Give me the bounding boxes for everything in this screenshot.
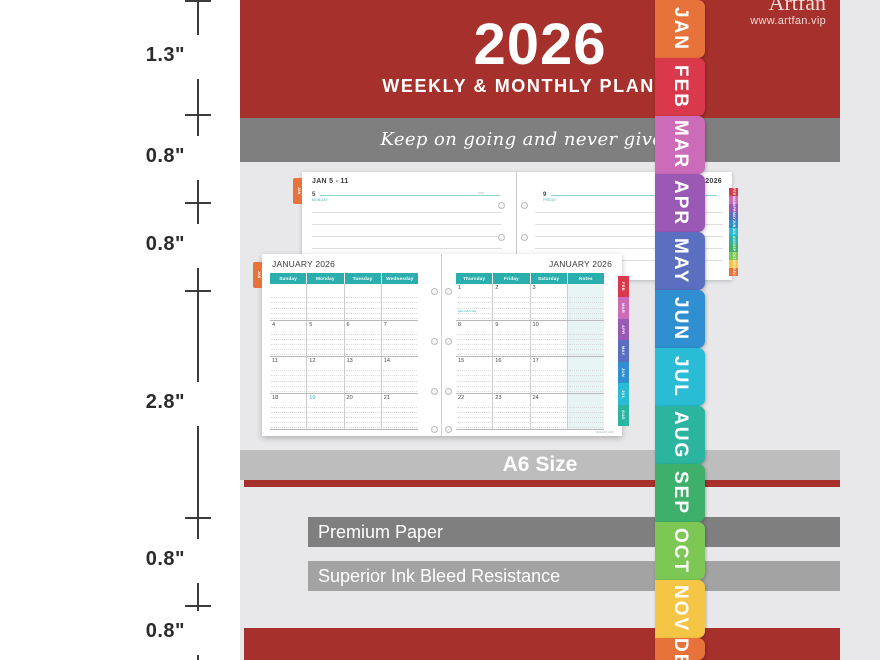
monthly-writing-lines — [271, 293, 305, 318]
month-tab-label: AUG — [655, 406, 705, 464]
product-listing-image: 1.3"0.8"0.8"2.8"0.8"0.8" Artfan www.artf… — [0, 0, 880, 660]
monthly-week-row: 4567 — [270, 321, 418, 358]
monthly-page-left: JANUARY 2026 SundayMondayTuesdayWednesda… — [262, 254, 442, 436]
monthly-writing-lines — [383, 293, 417, 318]
month-tab-sep[interactable]: SEP — [655, 464, 705, 522]
monthly-week-row: 18192021 — [270, 394, 418, 431]
weekly-rule — [320, 195, 500, 196]
monthly-day-cell[interactable]: 6 — [345, 321, 382, 357]
monthly-writing-lines — [494, 403, 528, 428]
monthly-writing-lines — [346, 403, 380, 428]
monthly-writing-lines — [346, 366, 380, 391]
mini-month-tab-jul: JUL — [729, 228, 738, 236]
ruler-segment: 1.3" — [0, 0, 240, 114]
monthly-day-cell[interactable]: 5 — [307, 321, 344, 357]
monthly-writing-lines — [383, 403, 417, 428]
monthly-column-header: Monday — [307, 273, 344, 284]
month-tab-feb[interactable]: FEB — [655, 58, 705, 116]
monthly-column-header: Saturday — [531, 273, 568, 284]
monthly-day-cell[interactable]: 23 — [493, 394, 530, 430]
quote-banner: Keep on going and never give up. — [240, 118, 840, 162]
mini-month-tab-feb: FEB — [729, 188, 738, 196]
ruler-line — [197, 202, 199, 224]
monthly-week-row: 222324 — [456, 394, 604, 431]
monthly-week-row: 1New Year's Day23 — [456, 284, 604, 321]
month-tab-label: DEC — [655, 638, 705, 660]
monthly-day-cell[interactable]: 8 — [456, 321, 493, 357]
monthly-writing-lines — [308, 366, 342, 391]
month-tab-rail: JANFEBMARAPRMAYJUNJULAUGSEPOCTNOVDEC — [655, 0, 711, 660]
monthly-day-cell[interactable] — [568, 321, 604, 357]
mini-month-tab-jul: JUL — [618, 383, 629, 404]
weekly-month-tab-strip: FEBMARAPRMAYJUNJULAUGSEPOCTNOVDEC — [729, 188, 738, 276]
mini-month-tab-oct: OCT — [729, 252, 738, 260]
mini-month-tab-dec: DEC — [729, 268, 738, 276]
monthly-writing-lines — [494, 293, 528, 318]
ruler-line — [197, 180, 199, 202]
month-tab-jun[interactable]: JUN — [655, 290, 705, 348]
monthly-day-cell[interactable] — [568, 394, 604, 430]
monthly-day-number: 3 — [533, 285, 536, 291]
ruler-segment-label: 2.8" — [0, 391, 185, 414]
month-tab-label: OCT — [655, 522, 705, 580]
mini-month-tab-mar: MAR — [618, 297, 629, 318]
weekly-day-name: FRIDAY — [543, 198, 557, 202]
monthly-writing-lines — [569, 330, 603, 355]
monthly-writing-lines — [457, 366, 491, 391]
ring-hole — [431, 288, 438, 295]
ruler-segment-label: 0.8" — [0, 548, 185, 571]
monthly-writing-lines — [383, 330, 417, 355]
monthly-day-cell[interactable] — [270, 284, 307, 320]
mini-month-tab-may: MAY — [618, 340, 629, 361]
ruler-line — [197, 517, 199, 539]
month-tab-aug[interactable]: AUG — [655, 406, 705, 464]
ring-hole — [431, 338, 438, 345]
ruler-segment-label: 0.8" — [0, 145, 185, 168]
monthly-column-header: Friday — [493, 273, 530, 284]
ruler-tick — [185, 0, 211, 2]
month-tab-label: MAY — [655, 232, 705, 290]
monthly-week-row — [270, 284, 418, 321]
month-tab-apr[interactable]: APR — [655, 174, 705, 232]
monthly-day-number: 6 — [347, 322, 350, 328]
monthly-day-cell[interactable]: 3 — [531, 284, 568, 320]
monthly-day-cell[interactable]: 2 — [493, 284, 530, 320]
size-banner: A6 Size — [240, 450, 840, 480]
monthly-day-cell[interactable]: 15 — [456, 357, 493, 393]
header-banner: Artfan www.artfan.vip 2026 WEEKLY & MONT… — [240, 0, 840, 118]
monthly-day-cell[interactable] — [307, 284, 344, 320]
monthly-day-number: 7 — [384, 322, 387, 328]
monthly-day-cell[interactable]: 16 — [493, 357, 530, 393]
ruler-line — [197, 268, 199, 290]
weekly-date-range: JAN 5 - 11 — [312, 178, 348, 185]
weekly-time-label: 6:00 — [478, 191, 484, 195]
month-tab-nov[interactable]: NOV — [655, 580, 705, 638]
monthly-writing-lines — [457, 403, 491, 428]
monthly-day-number: 8 — [458, 322, 461, 328]
bottom-banner — [244, 628, 840, 660]
ring-hole — [445, 388, 452, 395]
monthly-day-cell[interactable]: 10 — [531, 321, 568, 357]
monthly-day-cell[interactable] — [568, 357, 604, 393]
monthly-writing-lines — [494, 330, 528, 355]
monthly-writing-lines — [308, 293, 342, 318]
month-tab-label: SEP — [655, 464, 705, 522]
feature-bar-ink-bleed: Superior Ink Bleed Resistance — [308, 561, 840, 591]
mini-month-tab-jun: JUN — [618, 362, 629, 383]
ruler-line — [197, 79, 199, 114]
monthly-writing-lines — [569, 293, 603, 318]
ring-hole — [445, 288, 452, 295]
month-tab-label: JUN — [655, 290, 705, 348]
monthly-writing-lines — [532, 403, 566, 428]
monthly-day-number: 13 — [347, 358, 353, 364]
month-tab-label: APR — [655, 174, 705, 232]
size-underline — [244, 480, 840, 487]
ring-hole — [521, 234, 528, 241]
monthly-writing-lines — [457, 330, 491, 355]
monthly-writing-lines — [271, 366, 305, 391]
monthly-header-row: ThursdayFridaySaturdayNotes — [456, 273, 604, 284]
month-tab-label: FEB — [655, 58, 705, 116]
month-tab-dec[interactable]: DEC — [655, 638, 705, 660]
mini-month-tab-aug: AUG — [618, 405, 629, 426]
monthly-column-header: Thursday — [456, 273, 493, 284]
monthly-grid-left: SundayMondayTuesdayWednesday456711121314… — [270, 273, 418, 431]
monthly-column-header: Notes — [568, 273, 604, 284]
ruler-segment-label: 0.8" — [0, 233, 185, 256]
brand-name: Artfan — [606, 0, 826, 14]
monthly-day-number: 16 — [495, 358, 501, 364]
ring-hole — [445, 338, 452, 345]
feature-label: Superior Ink Bleed Resistance — [308, 561, 840, 591]
monthly-day-number: 11 — [272, 358, 278, 364]
monthly-column-header: Tuesday — [345, 273, 382, 284]
monthly-day-cell[interactable]: 24 — [531, 394, 568, 430]
product-panel: Artfan www.artfan.vip 2026 WEEKLY & MONT… — [240, 0, 880, 660]
monthly-day-cell[interactable]: 9 — [493, 321, 530, 357]
monthly-day-number: 15 — [458, 358, 464, 364]
ruler-line — [197, 605, 199, 611]
monthly-day-number: 10 — [533, 322, 539, 328]
monthly-day-number: 17 — [533, 358, 539, 364]
monthly-writing-lines — [494, 366, 528, 391]
monthly-day-number: 9 — [495, 322, 498, 328]
monthly-day-cell[interactable]: 1New Year's Day — [456, 284, 493, 320]
mini-month-tab-sep: SEP — [729, 244, 738, 252]
ruler-line — [197, 290, 199, 382]
quote-text: Keep on going and never give up. — [240, 118, 840, 162]
monthly-day-number: 12 — [309, 358, 315, 364]
ring-hole — [498, 202, 505, 209]
monthly-writing-lines — [346, 330, 380, 355]
product-photo-area: JAN JAN 5 - 11 5 MONDAY 6:00 — [240, 162, 840, 450]
ruler-segment-label: 1.3" — [0, 44, 185, 67]
monthly-day-number: 2 — [495, 285, 498, 291]
dimension-ruler: 1.3"0.8"0.8"2.8"0.8"0.8" — [0, 0, 240, 660]
monthly-writing-lines — [308, 330, 342, 355]
monthly-column-header: Wednesday — [382, 273, 418, 284]
monthly-day-cell[interactable]: 19 — [307, 394, 344, 430]
monthly-day-number: 20 — [347, 395, 353, 401]
monthly-writing-lines — [308, 403, 342, 428]
monthly-day-cell[interactable]: 11 — [270, 357, 307, 393]
month-tab-mar[interactable]: MAR — [655, 116, 705, 174]
month-tab-label: MAR — [655, 116, 705, 174]
ruler-segment: 2.8" — [0, 290, 240, 517]
monthly-day-number: 14 — [384, 358, 390, 364]
page-subtitle: WEEKLY & MONTHLY PLANNER — [240, 76, 840, 97]
ruler-segment: 0.8" — [0, 517, 240, 605]
monthly-writing-lines — [271, 330, 305, 355]
ruler-segment: 0.8" — [0, 202, 240, 290]
monthly-day-number: 4 — [272, 322, 275, 328]
weekly-day-right: 9 FRIDAY — [543, 192, 557, 202]
monthly-title-left: JANUARY 2026 — [272, 259, 335, 269]
month-tab-oct[interactable]: OCT — [655, 522, 705, 580]
monthly-day-cell[interactable]: 12 — [307, 357, 344, 393]
monthly-day-number: 5 — [309, 322, 312, 328]
monthly-writing-lines — [271, 403, 305, 428]
monthly-writing-lines — [383, 366, 417, 391]
ruler-segment: 0.8" — [0, 605, 240, 660]
month-tab-may[interactable]: MAY — [655, 232, 705, 290]
monthly-day-cell[interactable]: 17 — [531, 357, 568, 393]
monthly-writing-lines — [346, 293, 380, 318]
mini-month-tab-nov: NOV — [729, 260, 738, 268]
monthly-writing-lines — [457, 293, 491, 318]
mini-month-tab-apr: APR — [729, 204, 738, 212]
monthly-day-number: 22 — [458, 395, 464, 401]
monthly-planner-spread: JAN JANUARY 2026 SundayMondayTuesdayWedn… — [262, 254, 622, 436]
mini-month-tab-may: MAY — [729, 212, 738, 220]
monthly-title-right: JANUARY 2026 — [549, 259, 612, 269]
monthly-day-number: 1 — [458, 285, 461, 291]
monthly-day-cell[interactable]: 21 — [382, 394, 418, 430]
ruler-segment-label: 0.8" — [0, 620, 185, 643]
month-tab-label: NOV — [655, 580, 705, 638]
monthly-day-number: 24 — [533, 395, 539, 401]
monthly-day-cell[interactable]: 4 — [270, 321, 307, 357]
monthly-week-row: 11121314 — [270, 357, 418, 394]
ring-hole — [498, 234, 505, 241]
ring-hole — [431, 426, 438, 433]
monthly-writing-lines — [532, 330, 566, 355]
month-tab-jan[interactable]: JAN — [655, 0, 705, 58]
ring-hole — [521, 202, 528, 209]
mini-month-tab-aug: AUG — [729, 236, 738, 244]
monthly-day-cell[interactable]: 13 — [345, 357, 382, 393]
weekly-line — [312, 236, 502, 237]
mini-month-tab-apr: APR — [618, 319, 629, 340]
monthly-day-number: 21 — [384, 395, 390, 401]
monthly-day-cell[interactable]: 14 — [382, 357, 418, 393]
ruler-line — [197, 114, 199, 136]
monthly-page-right: JANUARY 2026 ThursdayFridaySaturdayNotes… — [442, 254, 622, 436]
monthly-grid-right: ThursdayFridaySaturdayNotes1New Year's D… — [456, 273, 604, 431]
monthly-day-cell[interactable]: 18 — [270, 394, 307, 430]
monthly-footer: JANUARY 2026 — [595, 431, 614, 434]
monthly-week-row: 8910 — [456, 321, 604, 358]
monthly-day-cell[interactable]: 22 — [456, 394, 493, 430]
weekly-line — [312, 224, 502, 225]
monthly-day-number: 18 — [272, 395, 278, 401]
monthly-day-number: 23 — [495, 395, 501, 401]
mini-month-tab-mar: MAR — [729, 196, 738, 204]
weekly-day-name: MONDAY — [312, 198, 328, 202]
page-title: 2026 — [240, 16, 840, 74]
monthly-day-cell[interactable]: 20 — [345, 394, 382, 430]
ruler-line — [197, 426, 199, 518]
monthly-month-tab-strip: FEBMARAPRMAYJUNJULAUG — [618, 276, 629, 426]
size-label: A6 Size — [240, 450, 840, 480]
ruler-segment: 0.8" — [0, 114, 240, 202]
ruler-line — [197, 583, 199, 605]
feature-label: Premium Paper — [308, 517, 840, 547]
feature-bar-premium-paper: Premium Paper — [308, 517, 840, 547]
monthly-day-number: 19 — [309, 395, 315, 401]
ring-hole — [431, 388, 438, 395]
weekly-line — [312, 212, 502, 213]
monthly-column-header: Sunday — [270, 273, 307, 284]
weekly-day-left: 5 MONDAY — [312, 192, 328, 202]
monthly-week-row: 151617 — [456, 357, 604, 394]
monthly-day-cell[interactable]: 7 — [382, 321, 418, 357]
monthly-writing-lines — [569, 366, 603, 391]
mini-month-tab-jun: JUN — [729, 220, 738, 228]
monthly-header-row: SundayMondayTuesdayWednesday — [270, 273, 418, 284]
ruler-line — [197, 0, 199, 35]
mini-month-tab-feb: FEB — [618, 276, 629, 297]
month-tab-label: JAN — [655, 0, 705, 58]
monthly-writing-lines — [532, 366, 566, 391]
ring-hole — [445, 426, 452, 433]
monthly-day-cell[interactable] — [568, 284, 604, 320]
monthly-day-cell[interactable] — [345, 284, 382, 320]
month-tab-jul[interactable]: JUL — [655, 348, 705, 406]
monthly-day-cell[interactable] — [382, 284, 418, 320]
monthly-writing-lines — [569, 403, 603, 428]
month-tab-label: JUL — [655, 348, 705, 406]
monthly-writing-lines — [532, 293, 566, 318]
weekly-line — [312, 248, 502, 249]
